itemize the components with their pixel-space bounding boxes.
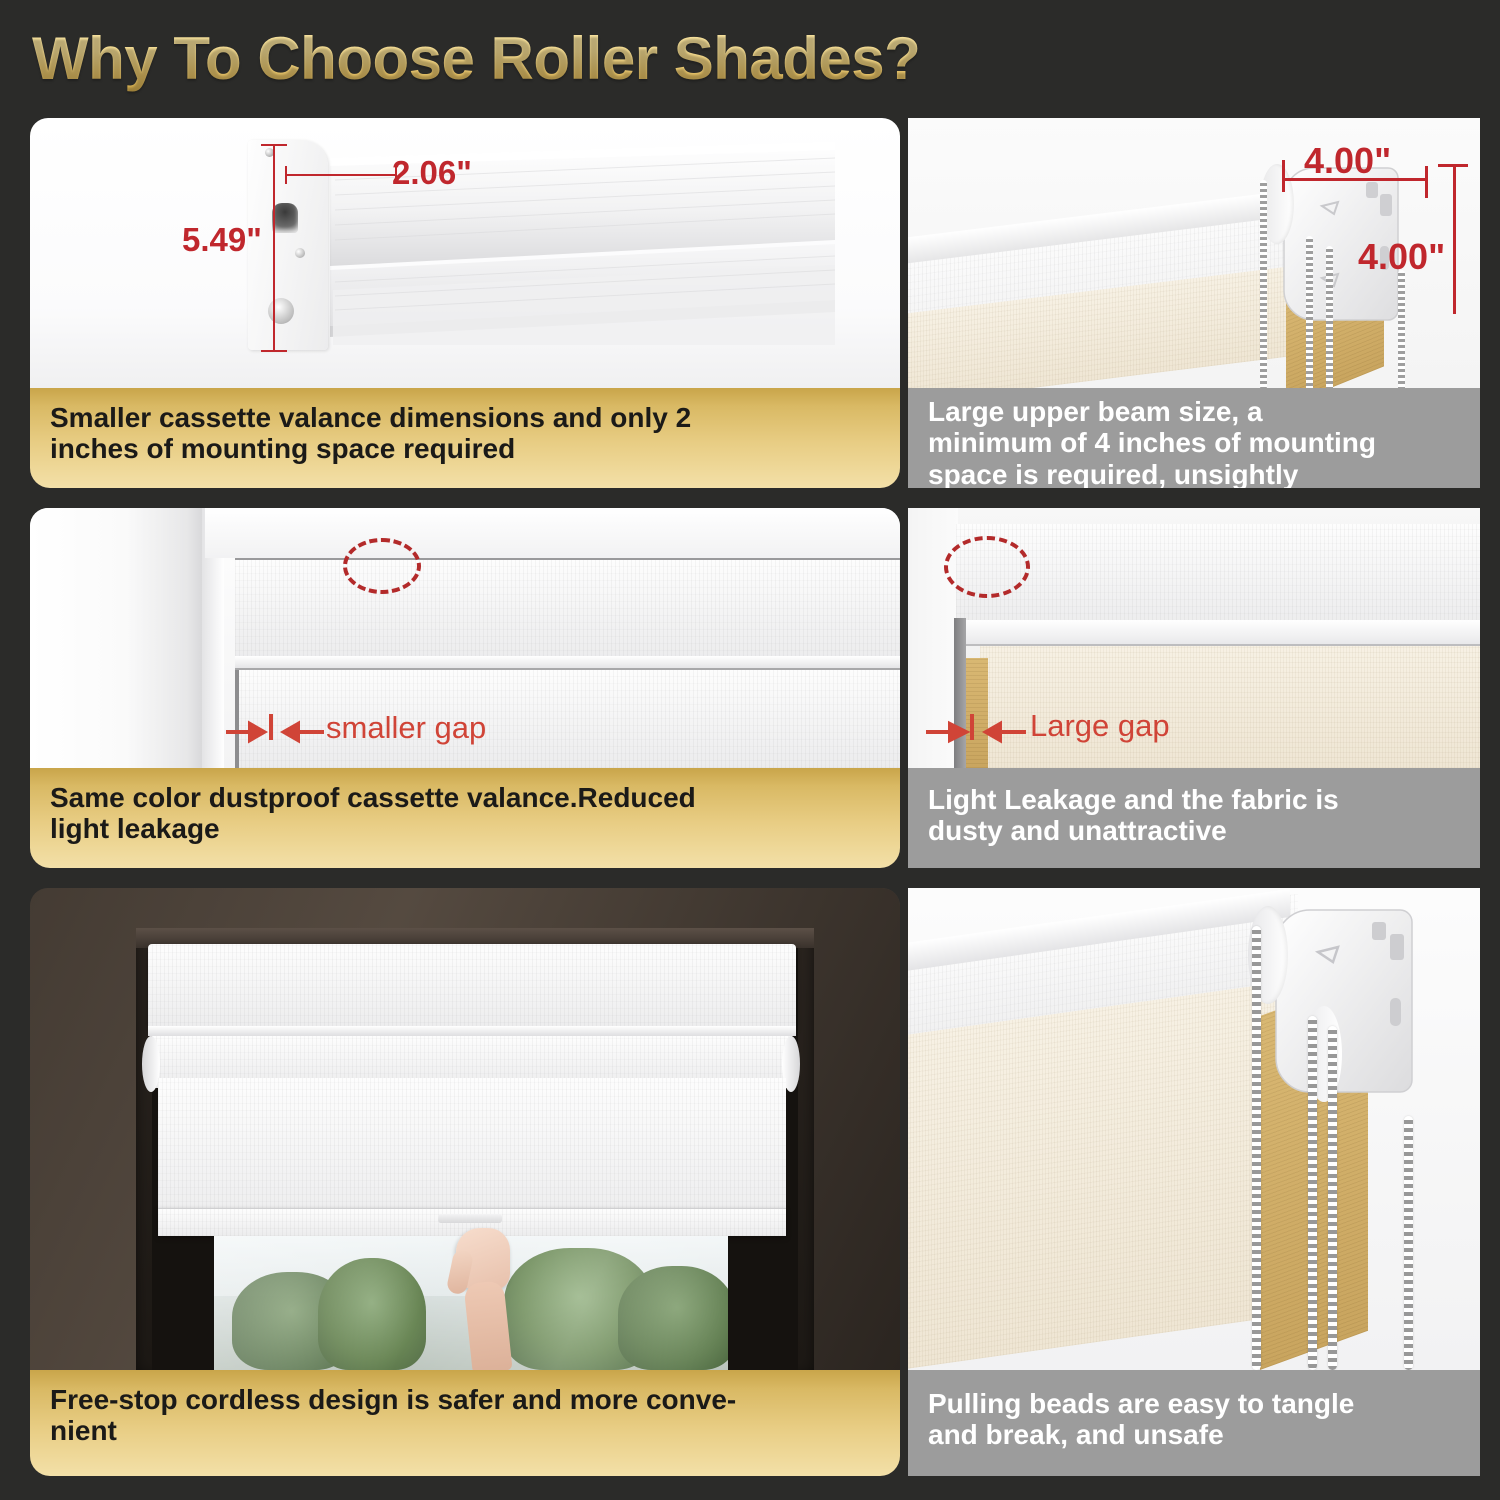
bead-chain <box>1306 236 1313 388</box>
beam-height-tick-top <box>1438 164 1468 167</box>
caption-line: Light Leakage and the fabric is <box>928 784 1339 815</box>
beam-height-dim-label: 4.00" <box>1358 236 1445 278</box>
caption-line: Free-stop cordless design is safer and m… <box>50 1384 736 1415</box>
hand-wrist <box>463 1280 512 1370</box>
cassette-valance <box>148 944 796 1030</box>
large-beam-image: 4.00" 4.00" <box>908 118 1480 388</box>
gap-marker-bar <box>970 714 974 740</box>
gap-arrow-right <box>280 720 324 744</box>
shade-fabric-upper <box>956 524 1480 628</box>
bead-chain <box>1308 1016 1317 1370</box>
bead-chain <box>1326 246 1333 388</box>
bead-chain <box>1398 270 1405 388</box>
gap-marker-bar <box>269 714 273 740</box>
bead-chain <box>1328 1026 1337 1370</box>
caption-line: Smaller cassette valance dimensions and … <box>50 402 691 433</box>
pulling-beads-image <box>908 888 1480 1370</box>
beam-height-dim-line <box>1453 164 1456 314</box>
gap-highlight-ellipse <box>944 536 1030 598</box>
caption-line: Pulling beads are easy to tangle <box>928 1388 1354 1419</box>
caption-line: nient <box>50 1415 736 1446</box>
caption-line: inches of mounting space required <box>50 433 691 464</box>
bracket-slot-icon <box>272 203 298 233</box>
height-dim-line <box>273 144 275 352</box>
panel-light-leakage: Large gap Light Leakage and the fabric i… <box>908 508 1480 868</box>
gap-highlight-ellipse <box>343 538 421 594</box>
panel-large-beam: 4.00" 4.00" Large upper beam size, a min… <box>908 118 1480 488</box>
caption-line: Large upper beam size, a <box>928 396 1376 427</box>
bead-chain <box>1260 180 1267 388</box>
screw-icon <box>295 248 305 258</box>
height-dim-label: 5.49" <box>182 221 262 259</box>
bead-chain <box>1404 1116 1413 1370</box>
gap-arrow-left <box>226 720 266 744</box>
beam-width-dim-label: 4.00" <box>1304 140 1391 182</box>
panel-dustproof-valance: smaller gap Same color dustproof cassett… <box>30 508 900 868</box>
smaller-gap-label: smaller gap <box>326 710 486 746</box>
shade-fabric-cream <box>908 982 1280 1370</box>
caption-line: space is required, unsightly <box>928 459 1376 488</box>
caption-line: minimum of 4 inches of mounting <box>928 427 1376 458</box>
panel-cordless-design: Free-stop cordless design is safer and m… <box>30 888 900 1476</box>
caption-pulling-beads: Pulling beads are easy to tangle and bre… <box>908 1370 1480 1476</box>
gap-arrow-right <box>982 720 1026 744</box>
caption-large-beam: Large upper beam size, a minimum of 4 in… <box>908 388 1480 488</box>
caption-line: dusty and unattractive <box>928 815 1339 846</box>
gap-arrow-left <box>926 720 968 744</box>
shade-fabric-cream <box>980 646 1480 768</box>
cassette-valance <box>235 558 900 658</box>
valance-bottom-lip <box>235 656 900 670</box>
hand <box>450 1224 524 1370</box>
cordless-design-image <box>30 888 900 1370</box>
title-bar: Why To Choose Roller Shades? <box>32 22 1132 94</box>
height-dim-tick-bottom <box>261 350 287 352</box>
caption-line: Same color dustproof cassette valance.Re… <box>50 782 696 813</box>
shade-backing-tan <box>966 658 988 768</box>
height-dim-tick-top <box>261 144 287 146</box>
panel-cassette-dimensions: 5.49" 2.06" Smaller cassette valance dim… <box>30 118 900 488</box>
dustproof-valance-image: smaller gap <box>30 508 900 768</box>
beam-width-tick-left <box>1282 160 1285 192</box>
light-gap-shadow <box>954 618 966 768</box>
caption-dustproof-valance: Same color dustproof cassette valance.Re… <box>30 768 900 868</box>
width-dim-tick-left <box>285 166 287 184</box>
caption-light-leakage: Light Leakage and the fabric is dusty an… <box>908 768 1480 868</box>
caption-line: light leakage <box>50 813 696 844</box>
bottom-rail-handle <box>438 1214 502 1223</box>
caption-line: and break, and unsafe <box>928 1419 1354 1450</box>
width-dim-line <box>285 174 397 176</box>
mounting-bracket <box>1260 898 1442 1110</box>
valance-lip <box>148 1026 796 1036</box>
lower-screw-icon <box>268 298 294 324</box>
bead-chain <box>1252 926 1261 1370</box>
caption-cassette-dimensions: Smaller cassette valance dimensions and … <box>30 388 900 488</box>
shade-left-edge <box>235 670 239 768</box>
cassette-valance-body <box>275 140 835 345</box>
caption-cordless-design: Free-stop cordless design is safer and m… <box>30 1370 900 1476</box>
width-dim-label: 2.06" <box>392 154 472 192</box>
panel-pulling-beads: Pulling beads are easy to tangle and bre… <box>908 888 1480 1476</box>
light-leakage-image: Large gap <box>908 508 1480 768</box>
roller-headrail <box>956 620 1480 646</box>
window-frame-jamb <box>30 508 205 768</box>
page-title: Why To Choose Roller Shades? <box>32 24 920 93</box>
cassette-dimensions-image: 5.49" 2.06" <box>30 118 900 388</box>
beam-width-tick-right <box>1425 166 1428 198</box>
window-frame-header <box>205 508 900 558</box>
large-gap-label: Large gap <box>1030 708 1170 744</box>
